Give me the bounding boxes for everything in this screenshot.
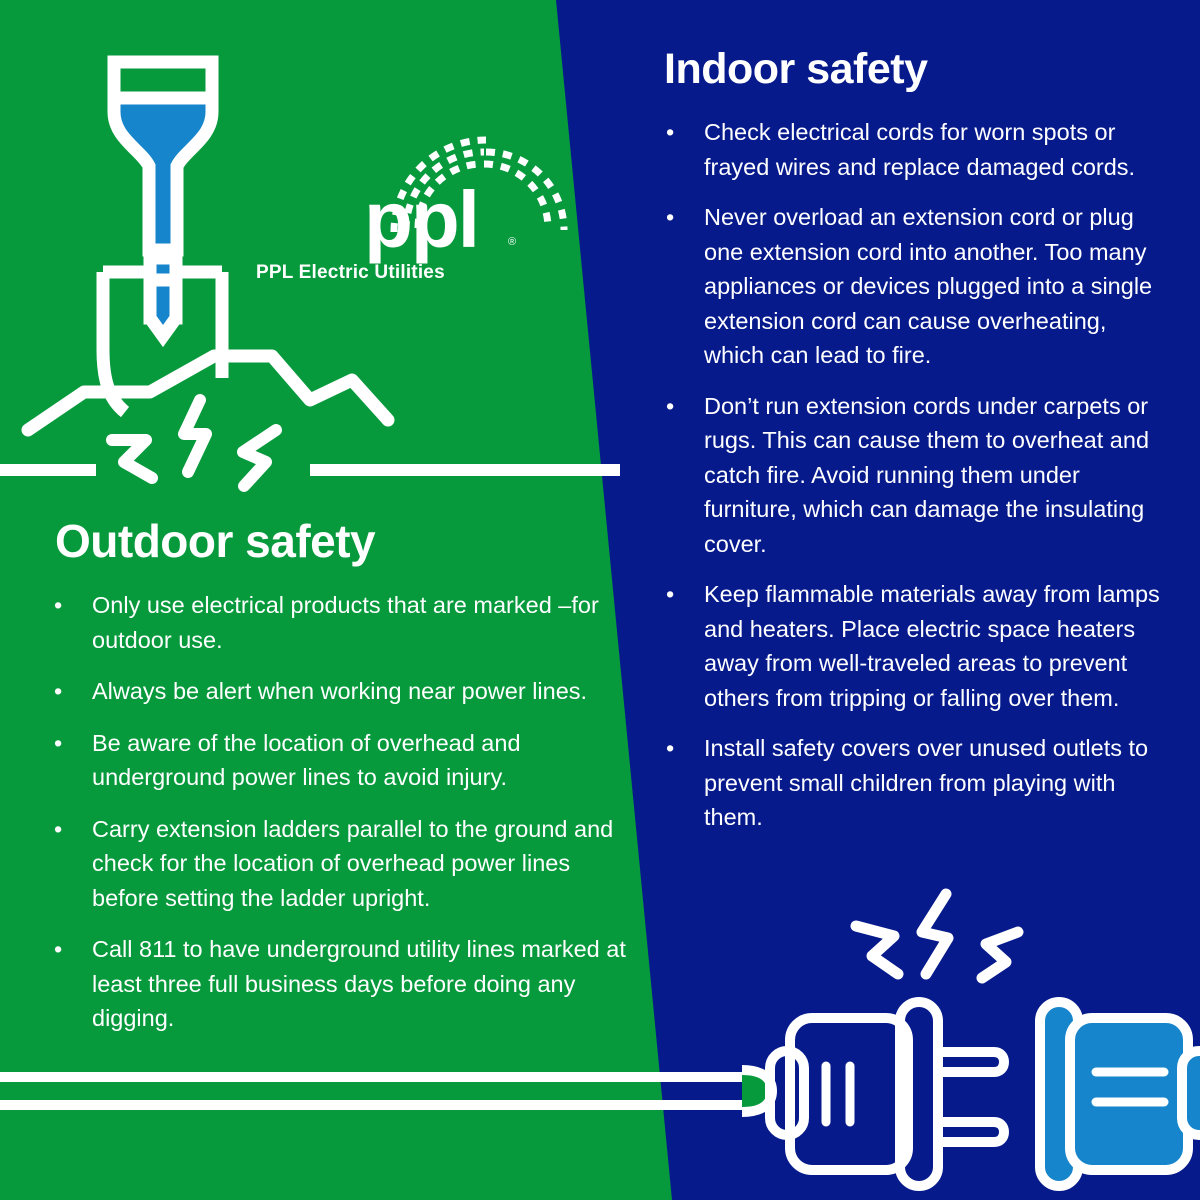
- list-item: • Install safety covers over unused outl…: [660, 731, 1160, 835]
- unplugged-power-plug-icon: [0, 880, 1200, 1200]
- indoor-heading: Indoor safety: [664, 48, 928, 91]
- bullet-marker: •: [54, 726, 62, 761]
- list-item-text: Always be alert when working near power …: [92, 674, 628, 709]
- list-item: • Don’t run extension cords under carpet…: [660, 389, 1160, 562]
- bullet-marker: •: [666, 200, 674, 235]
- list-item-text: Never overload an extension cord or plug…: [704, 200, 1160, 373]
- bullet-marker: •: [54, 812, 62, 847]
- list-item-text: Be aware of the location of overhead and…: [92, 726, 628, 795]
- ppl-tagline: PPL Electric Utilities: [256, 262, 445, 284]
- ppl-wordmark: ppl: [364, 180, 478, 260]
- bullet-marker: •: [54, 674, 62, 709]
- bullet-marker: •: [666, 115, 674, 150]
- bullet-marker: •: [666, 389, 674, 424]
- registered-mark: ®: [508, 236, 516, 248]
- list-item-text: Keep flammable materials away from lamps…: [704, 577, 1160, 715]
- list-item-text: Only use electrical products that are ma…: [92, 588, 628, 657]
- list-item: • Keep flammable materials away from lam…: [660, 577, 1160, 715]
- list-item: • Check electrical cords for worn spots …: [660, 115, 1160, 184]
- bullet-marker: •: [666, 731, 674, 766]
- list-item: • Never overload an extension cord or pl…: [660, 200, 1160, 373]
- safety-infographic: ppl ® PPL Electric Utilities Outdoor saf…: [0, 0, 1200, 1200]
- list-item: • Be aware of the location of overhead a…: [48, 726, 628, 795]
- shovel-digging-ground-icon: [0, 0, 660, 500]
- indoor-bullet-list: • Check electrical cords for worn spots …: [660, 115, 1160, 851]
- bullet-marker: •: [666, 577, 674, 612]
- list-item-text: Install safety covers over unused outlet…: [704, 731, 1160, 835]
- bullet-marker: •: [54, 588, 62, 623]
- list-item: • Always be alert when working near powe…: [48, 674, 628, 709]
- list-item: • Only use electrical products that are …: [48, 588, 628, 657]
- list-item-text: Don’t run extension cords under carpets …: [704, 389, 1160, 562]
- list-item-text: Check electrical cords for worn spots or…: [704, 115, 1160, 184]
- outdoor-heading: Outdoor safety: [55, 518, 375, 564]
